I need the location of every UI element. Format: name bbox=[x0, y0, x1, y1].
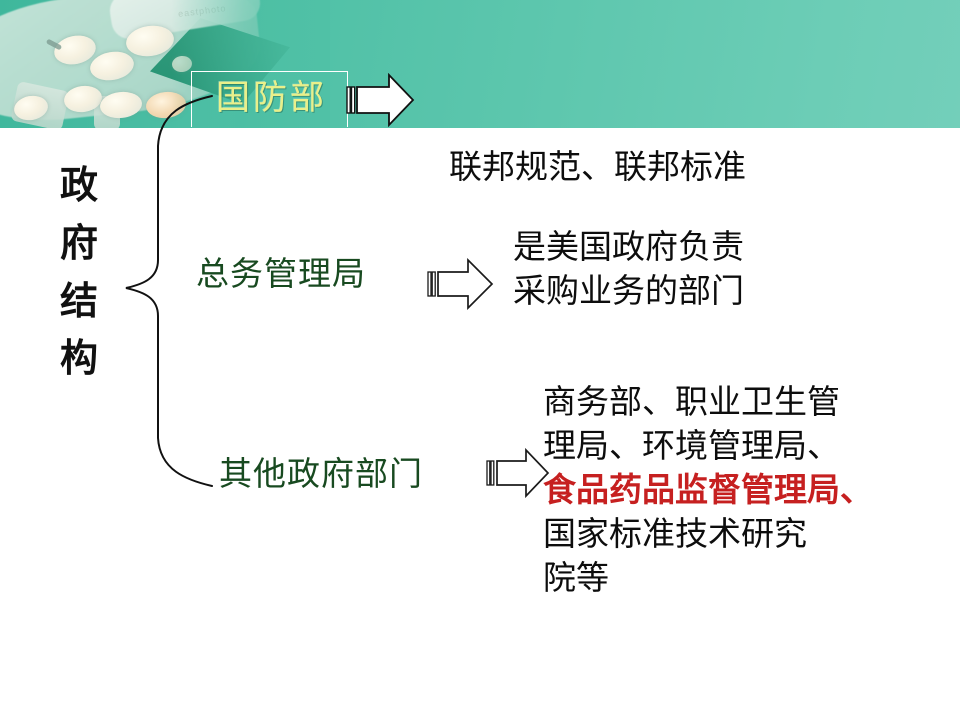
other-depts-line-4: 院等 bbox=[543, 558, 943, 602]
other-depts-line-0: 商务部、职业卫生管 bbox=[543, 382, 943, 426]
vertical-title-char-3: 构 bbox=[52, 331, 106, 389]
block-arrow-right-icon-gsa bbox=[424, 258, 494, 310]
federal-standards-text: 联邦规范、联邦标准 bbox=[449, 147, 746, 191]
gsa-description: 是美国政府负责 采购业务的部门 bbox=[513, 227, 744, 315]
block-arrow-right-icon-other bbox=[484, 448, 550, 498]
gsa-label: 总务管理局 bbox=[196, 247, 366, 295]
vertical-title-char-1: 府 bbox=[52, 216, 106, 274]
slide-canvas: eastphoto 国防部 政 府 结 构 联邦规范、联邦标准 总务管理局 是美… bbox=[0, 0, 960, 720]
vertical-title-char-0: 政 bbox=[52, 158, 106, 216]
gsa-description-line-1: 采购业务的部门 bbox=[513, 271, 744, 315]
vertical-page-title: 政 府 结 构 bbox=[52, 158, 106, 389]
other-depts-description: 商务部、职业卫生管 理局、环境管理局、 食品药品监督管理局、 国家标准技术研究 … bbox=[543, 382, 943, 601]
other-depts-line-2-highlight: 食品药品监督管理局、 bbox=[543, 470, 943, 514]
vertical-title-char-2: 结 bbox=[52, 274, 106, 332]
block-arrow-right-icon-defense bbox=[343, 73, 415, 127]
other-depts-line-1: 理局、环境管理局、 bbox=[543, 426, 943, 470]
other-depts-line-3: 国家标准技术研究 bbox=[543, 514, 943, 558]
other-depts-label: 其他政府部门 bbox=[219, 447, 423, 495]
gsa-description-line-0: 是美国政府负责 bbox=[513, 227, 744, 271]
